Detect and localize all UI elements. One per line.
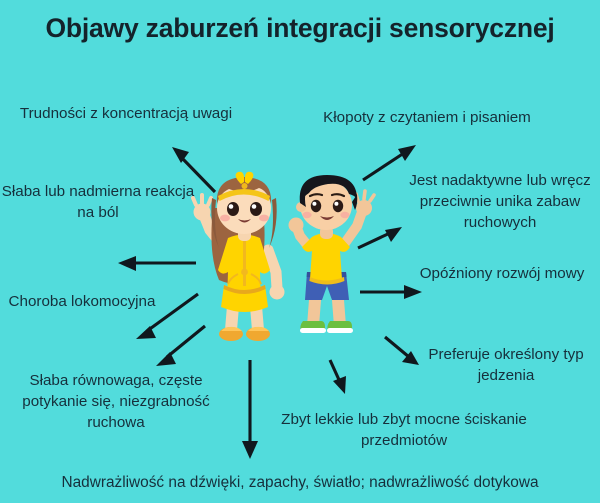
boy-legs xyxy=(313,300,340,326)
girl-eyes xyxy=(227,202,262,216)
arrow-to-pain xyxy=(118,256,196,271)
boy-eyes xyxy=(311,200,343,212)
boy-right-arm xyxy=(345,191,374,243)
arrow-to-speech xyxy=(360,285,422,299)
arrow-to-sensitivity xyxy=(242,360,258,459)
label-sensitivity: Nadwrażliwość na dźwięki, zapachy, świat… xyxy=(0,472,600,493)
infographic-poster: Objawy zaburzeń integracji sensorycznej xyxy=(0,0,600,503)
boy-shirt xyxy=(302,233,350,285)
girl-legs xyxy=(231,306,258,330)
girl-shoes xyxy=(219,327,270,341)
label-reading-writing: Kłopoty z czytaniem i pisaniem xyxy=(292,108,562,129)
label-hyperactivity: Jest nadaktywne lub wręcz przeciwnie uni… xyxy=(404,171,596,234)
label-food: Preferuje określony typ jedzenia xyxy=(416,345,596,387)
arrow-to-balance xyxy=(156,326,205,366)
arrow-to-food xyxy=(385,337,419,365)
girl-head xyxy=(211,172,276,248)
boy-sneakers xyxy=(300,321,353,333)
arrow-to-grip xyxy=(330,360,346,394)
page-title: Objawy zaburzeń integracji sensorycznej xyxy=(0,13,600,44)
label-pain: Słaba lub nadmierna reakcja na ból xyxy=(0,182,196,224)
label-motion-sickness: Choroba lokomocyjna xyxy=(6,292,158,313)
girl-right-arm xyxy=(268,250,285,300)
label-concentration: Trudności z koncentracją uwagi xyxy=(8,104,244,125)
label-grip: Zbyt lekkie lub zbyt mocne ściskanie prz… xyxy=(278,410,530,452)
girl-left-arm xyxy=(193,195,222,245)
boy-head xyxy=(296,175,357,230)
girl-hair-back xyxy=(211,208,264,284)
boy-shorts xyxy=(305,272,349,300)
girl-figure xyxy=(193,172,285,341)
label-balance: Słaba równowaga, częste potykanie się, n… xyxy=(0,371,232,434)
label-speech: Opóźniony rozwój mowy xyxy=(412,264,592,285)
boy-figure xyxy=(289,175,375,333)
girl-bow xyxy=(236,172,254,189)
boy-left-arm xyxy=(289,218,309,247)
girl-dress xyxy=(218,235,270,313)
arrow-to-hyperactivity xyxy=(358,227,402,248)
